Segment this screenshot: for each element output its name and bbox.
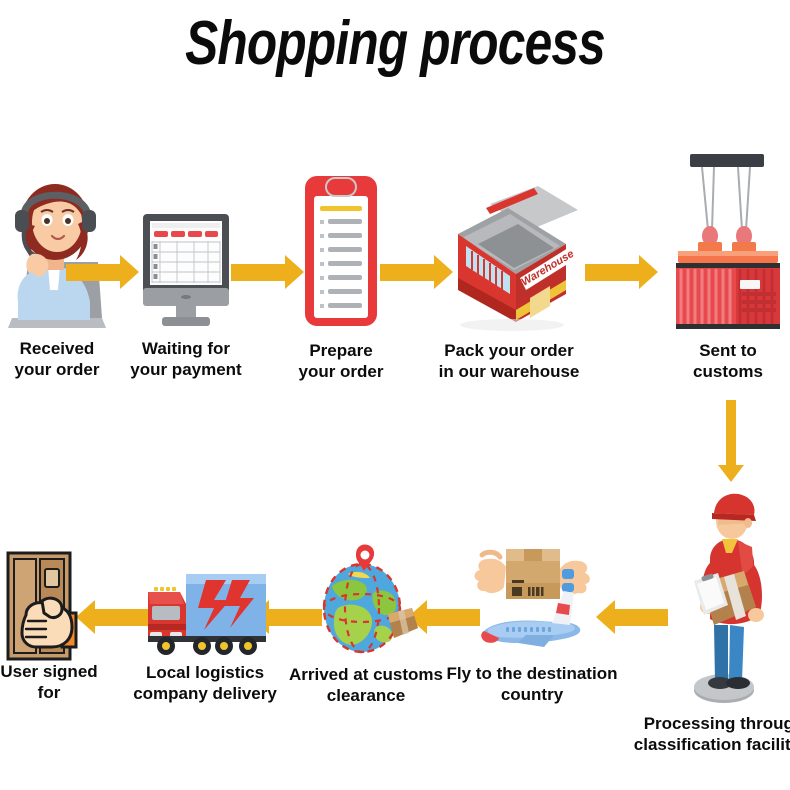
step-arrived-at-customs-clearance: Arrived at customs clearance (308, 544, 424, 664)
arrow-shaft (585, 264, 641, 281)
arrow-received-to-waiting (66, 255, 139, 289)
step-user-signed-for: User signed for (6, 551, 92, 663)
crane-shipping-container-icon (670, 152, 786, 332)
arrow-head (718, 465, 744, 482)
step-waiting-for-your-payment: Waiting for your payment (140, 212, 232, 330)
step-label-waiting-for-your-payment: Waiting for your payment (98, 338, 274, 380)
clipboard-checklist-icon (303, 174, 379, 330)
step-label-processing-through-classification-facilities: Processing through classification facili… (628, 713, 790, 755)
monitor-spreadsheet-icon (140, 212, 232, 330)
arrow-customs-to-processing (718, 400, 744, 482)
delivery-worker-parcels-icon (668, 485, 780, 710)
arrow-shaft (425, 609, 480, 626)
step-label-local-logistics-company-delivery: Local logistics company delivery (112, 662, 298, 704)
step-received-your-order: Received your order (2, 170, 112, 330)
airplane-package-icon (466, 543, 596, 663)
page-title: Shopping process (79, 8, 711, 80)
step-sent-to-customs: Sent to customs (670, 152, 786, 332)
arrow-head (285, 255, 304, 289)
arrow-shaft (93, 609, 148, 626)
hand-knocking-door-icon (6, 551, 92, 663)
arrow-shaft (231, 264, 287, 281)
arrow-shaft (267, 609, 322, 626)
arrow-shaft (613, 609, 668, 626)
step-label-user-signed-for: User signed for (0, 661, 120, 703)
delivery-truck-icon (140, 562, 270, 662)
step-label-sent-to-customs: Sent to customs (656, 340, 790, 382)
arrow-head (120, 255, 139, 289)
arrow-shaft (726, 400, 736, 467)
step-local-logistics-company-delivery: Local logistics company delivery (140, 562, 270, 662)
arrow-pack-to-customs (585, 255, 658, 289)
customer-service-agent-laptop-icon (2, 170, 112, 330)
step-pack-your-order-in-our-warehouse: Warehouse Pack your order in our warehou… (438, 182, 580, 332)
step-processing-through-classification-facilities: Processing through classification facili… (668, 485, 780, 710)
arrow-shaft (66, 264, 122, 281)
step-label-pack-your-order-in-our-warehouse: Pack your order in our warehouse (414, 340, 604, 382)
warehouse-building-icon: Warehouse (438, 182, 580, 332)
arrow-processing-to-fly (596, 600, 668, 634)
arrow-shaft (380, 264, 436, 281)
step-fly-to-the-destination-country: Fly to the destination country (466, 543, 596, 663)
globe-customs-package-icon (308, 544, 424, 664)
arrow-head (596, 600, 615, 634)
step-label-prepare-your-order: Prepare your order (273, 340, 409, 382)
arrow-waiting-to-prepare (231, 255, 304, 289)
arrow-head (639, 255, 658, 289)
step-prepare-your-order: Prepare your order (303, 174, 379, 330)
